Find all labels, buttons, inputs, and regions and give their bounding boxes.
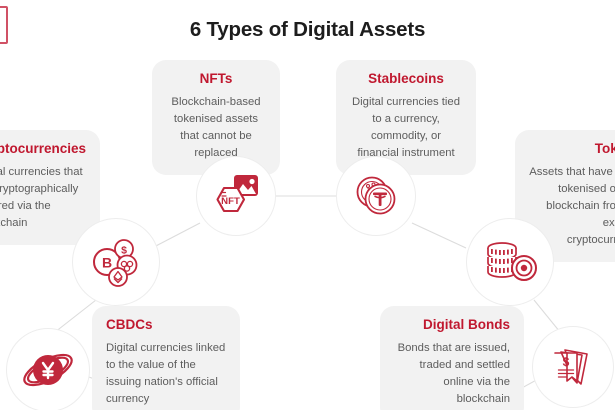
card-cryptocurrencies[interactable]: Cryptocurrencies Digital currencies that… [0, 130, 100, 245]
card-title-nfts: NFTs [166, 71, 266, 87]
node-nfts[interactable]: NFT [196, 156, 276, 236]
card-nfts[interactable]: NFTs Blockchain-based tokenised assets t… [152, 60, 280, 175]
card-body-stablecoins: Digital currencies tied to a currency, c… [350, 94, 462, 163]
card-body-digital-bonds: Bonds that are issued, traded and settle… [394, 340, 510, 409]
card-cbdcs[interactable]: CBDCs Digital currencies linked to the v… [92, 306, 240, 410]
card-stablecoins[interactable]: Stablecoins Digital currencies tied to a… [336, 60, 476, 175]
bond-certificate-dollar-icon: $ [548, 343, 598, 391]
page-title: 6 Types of Digital Assets [0, 18, 615, 42]
node-cryptocurrencies[interactable]: B $ [72, 218, 160, 306]
svg-text:$: $ [563, 355, 570, 369]
card-title-cryptocurrencies: Cryptocurrencies [0, 141, 86, 157]
cbdc-yen-orbit-icon [19, 346, 77, 394]
node-digital-bonds[interactable]: $ [532, 326, 614, 408]
svg-text:B: B [102, 255, 112, 271]
card-body-cbdcs: Digital currencies linked to the value o… [106, 340, 226, 409]
card-title-tokens: Tokens [529, 141, 615, 157]
coin-stack-token-icon [482, 238, 538, 286]
card-title-stablecoins: Stablecoins [350, 71, 462, 87]
card-title-digital-bonds: Digital Bonds [394, 317, 510, 333]
crypto-coin-cluster-icon: B $ [89, 236, 143, 288]
node-tokens[interactable] [466, 218, 554, 306]
card-title-cbdcs: CBDCs [106, 317, 226, 333]
nft-hexagon-picture-icon: NFT [211, 172, 261, 220]
node-cbdcs[interactable] [6, 328, 90, 410]
card-body-nfts: Blockchain-based tokenised assets that c… [166, 94, 266, 163]
node-stablecoins[interactable] [336, 156, 416, 236]
infographic-canvas: 6 Types of Digital Assets NFTs Blockchai… [0, 0, 615, 410]
svg-text:NFT: NFT [221, 196, 240, 207]
card-digital-bonds[interactable]: Digital Bonds Bonds that are issued, tra… [380, 306, 524, 410]
card-body-cryptocurrencies: Digital currencies that are cryptographi… [0, 164, 86, 233]
stablecoin-tether-coins-icon [351, 172, 401, 220]
